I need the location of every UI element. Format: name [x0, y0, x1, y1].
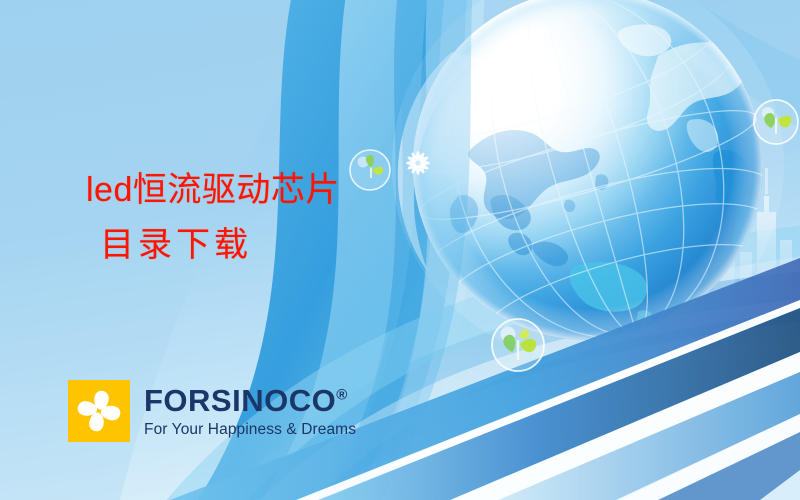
promotional-banner: led恒流驱动芯片 目录下载 FORSINOCO® — [0, 0, 800, 500]
bubble-sprout-right — [754, 100, 798, 144]
wordmark-text: FORSINOCO — [144, 383, 336, 418]
bubble-sprout-center — [492, 319, 544, 371]
wordmark: FORSINOCO® — [144, 385, 356, 416]
page-title: led恒流驱动芯片 目录下载 — [86, 163, 340, 273]
headline-line-1: led恒流驱动芯片 — [86, 171, 340, 209]
company-logo[interactable]: FORSINOCO® For Your Happiness & Dreams — [68, 380, 356, 442]
logo-text-block: FORSINOCO® For Your Happiness & Dreams — [144, 385, 356, 438]
bubble-sprout-left — [350, 150, 390, 190]
headline-line-2: 目录下载 — [86, 218, 340, 273]
four-petal-pinwheel-icon — [68, 380, 130, 442]
registered-trademark-icon: ® — [336, 386, 348, 403]
logo-tagline: For Your Happiness & Dreams — [144, 422, 356, 438]
